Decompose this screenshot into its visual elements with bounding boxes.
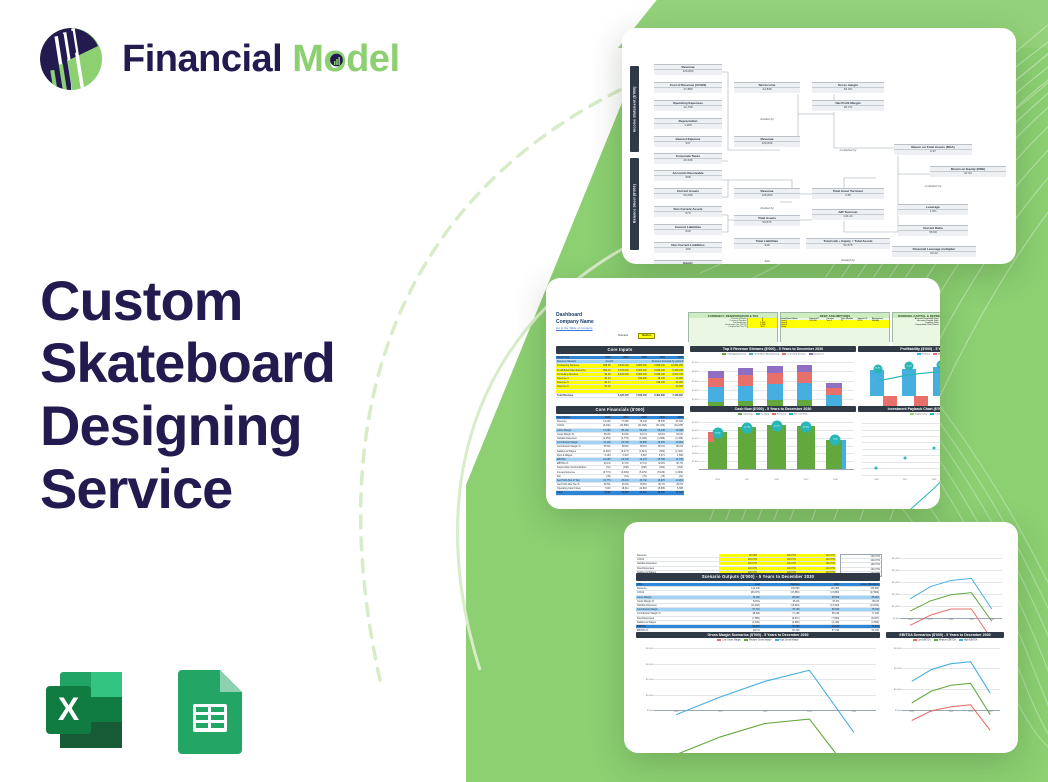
dupont-operator: multiplied by: [812, 148, 884, 152]
brand-name-secondary: M o del: [292, 40, 399, 78]
panel-debt-assumptions: DEBT ASSUMPTIONS Loan/Grant NameAmount $…: [780, 312, 890, 342]
bar-investing: [842, 440, 847, 469]
dupont-node: Return on Equity (ROE) 61.03: [930, 166, 1006, 178]
chart-plot-area: $7,000 $6,000 $5,000 $4,000 $3,000 $2,00…: [699, 422, 854, 478]
chart-plot-area: $20,000 $15,000 $10,000 $5,000 2026 2027…: [902, 648, 1000, 710]
data-label-bubble: 52.3%: [937, 361, 941, 370]
supported-apps: X: [38, 664, 254, 756]
data-label-bubble: 43,700: [771, 421, 782, 432]
dupont-node: Accounts Receivable 998: [654, 170, 722, 182]
chart-plot-area: $25,000 $20,000 $15,000 $10,000 $5,000 2…: [654, 648, 876, 710]
chart-plot-area: $9,000 $8,000 $7,000 $6,000 $5,000 $4,00…: [862, 422, 940, 478]
chart-legend: Payback year Cumulative Cash Generated (…: [858, 412, 940, 417]
toc-link[interactable]: Go to the Table of Contents: [556, 326, 594, 330]
table-core-financials: Description20262027202820292030 Revenue1…: [556, 416, 684, 496]
chart-plot-area: $30,000 $25,000 $20,000 $15,000 $10,000 …: [900, 558, 1002, 618]
dashboard-sheet: Dashboard Company Name Go to the Table o…: [556, 312, 932, 487]
dupont-node: Interest Expense 537: [654, 136, 722, 148]
scenario-sheet: Revenue98.63%100.07%110.07% COGS100.07%1…: [636, 554, 1008, 731]
dupont-node: Total Liab + Equity = Total Assets 50,57…: [806, 238, 890, 250]
gross-margin-lines: [654, 648, 876, 753]
brand-logo: Financial M o del: [38, 26, 400, 92]
dupont-node: Current Ratio 58.98: [898, 225, 968, 237]
dupont-node: Leverage 1.9%: [898, 204, 968, 216]
dupont-operator: Add: [734, 259, 800, 263]
data-label-bubble: 8,7000: [712, 428, 723, 439]
dupont-node: Total Liabilities 949: [734, 238, 800, 250]
pie-bar-chart-logo-icon: [38, 26, 104, 92]
screenshot-card-dashboard[interactable]: Dashboard Company Name Go to the Table o…: [546, 278, 940, 509]
data-label-bubble: 51.5%: [905, 362, 914, 371]
dupont-node: Net Profit Margin 35.7%: [812, 100, 884, 112]
data-label-bubble: 43,100: [800, 422, 811, 433]
google-sheets-icon[interactable]: [162, 664, 254, 756]
section-title-core-financials: Core Financials ($'000): [556, 406, 684, 414]
brand-name-primary: Financial: [122, 40, 282, 78]
dupont-node: Net Income 44,828: [734, 82, 800, 94]
panel-working-capital-depreciation: WORKING CAPITAL & DEPRECIATION Accounts …: [892, 312, 940, 342]
dupont-node: Total Asset Turnover 2.55: [812, 188, 884, 200]
table-total-row: Total Revenue6,420,4007,830,4008,484,600…: [556, 394, 684, 398]
section-title-scenario-outputs: Scenario Outputs ($'000) - 5 Years to De…: [636, 573, 880, 581]
dupont-node: Financial Leverage multiplier 63.22: [892, 246, 976, 258]
table-scenario-outputs: KPIsLowMediumHighActive (Medium) Revenue…: [636, 583, 880, 633]
dupont-node: Corporate Taxes 20,636: [654, 153, 722, 165]
data-point: [875, 466, 878, 469]
dupont-node: Current Assets 50,006: [654, 188, 722, 200]
dupont-node: Depreciation 1,265: [654, 118, 722, 130]
dupont-node: Cost of Revenue (COGS) 47,880: [654, 82, 722, 94]
table-scenario-assumptions: Revenue98.63%100.07%110.07% COGS100.07%1…: [636, 554, 836, 575]
chart-gross-margin-scenarios: Gross Margin Scenarios ($'000) - 5 Years…: [636, 632, 880, 720]
dupont-node: Operating Expenses 12,758: [654, 100, 722, 112]
dupont-operator: divided by: [812, 258, 884, 262]
screenshot-card-scenario-analysis[interactable]: Revenue98.63%100.07%110.07% COGS100.07%1…: [624, 522, 1018, 753]
dupont-node: Non Current Liabilities 109: [654, 242, 722, 254]
scenario-label: Scenario: [618, 334, 628, 337]
dupont-diagram: Income Statement ($'000) Balance Sheet (…: [630, 62, 1010, 246]
chart-legend: Operating Investing Financing Net Cash F…: [690, 412, 856, 417]
svg-text:X: X: [58, 691, 80, 727]
screenshot-card-dupont-analysis[interactable]: Income Statement ($'000) Balance Sheet (…: [622, 28, 1016, 264]
dupont-operator: divided by: [734, 117, 800, 121]
data-label-bubble: 42,700: [742, 422, 753, 433]
chart-legend: Low Gross Margin Medium Gross Margin Hig…: [636, 638, 880, 643]
chart-investment-payback: Investment Payback Chart ($'000) - 5 Yea…: [858, 406, 940, 488]
mini-chart-icon: [330, 53, 343, 67]
dupont-node: Non Current Assets 570: [654, 206, 722, 218]
data-label-bubble: 8,050: [830, 434, 841, 445]
data-point: [933, 446, 936, 449]
poster-canvas: Financial M o del Custom Skateboard Desi…: [0, 0, 1048, 782]
data-point: [904, 456, 907, 459]
chart-scenario-trend: $30,000 $25,000 $20,000 $15,000 $10,000 …: [886, 554, 1004, 626]
dupont-node: Revenue 126,800: [734, 136, 800, 148]
dupont-operator: divided by: [734, 206, 800, 210]
dupont-node: Revenue 126,800: [654, 64, 722, 76]
dupont-node: Equity 49,629: [654, 260, 722, 264]
scenario-selector[interactable]: Medium: [638, 333, 655, 339]
table-row: Cash8,89618,69034,78128,76518,591: [556, 491, 684, 495]
chart-ebitda-scenarios: EBITDA Scenarios ($'000) - 5 Years to De…: [886, 632, 1004, 720]
microsoft-excel-icon[interactable]: X: [38, 664, 130, 756]
data-label-bubble: 50.1%: [873, 364, 882, 373]
chart-legend: Revenue EBITDA EBITDA %: [858, 352, 940, 357]
section-title-core-inputs: Core Inputs: [556, 346, 684, 354]
table-core-inputs: Fiscal Year20262027202820292030 Revenue …: [556, 356, 684, 398]
dashboard-heading: Dashboard Company Name Go to the Table o…: [556, 312, 594, 330]
dupont-node: Return on Total Assets (ROA) 0.97: [894, 144, 972, 156]
panel-currency-denomination-tax: CURRENCY, DENOMINATION & TAX Currency Na…: [688, 312, 778, 342]
chart-legend: Prototyping Services Small Batch Manufac…: [690, 352, 856, 357]
chart-cash-flow: Cash flow ($'000) - 5 Years to December …: [690, 406, 856, 488]
brand-wordmark: Financial M o del: [122, 40, 400, 78]
dupont-node: A/R Turnover 144.24: [812, 209, 884, 221]
dupont-node: Revenue 126,800: [734, 188, 800, 200]
dupont-operator: multiplied by: [894, 184, 972, 188]
dupont-node: Current Liabilities 849: [654, 224, 722, 236]
ebitda-lines: [902, 648, 1000, 746]
dupont-node: Total Assets 50,576: [734, 215, 800, 227]
dupont-node: Gross margin 63.0%: [812, 82, 884, 94]
chart-legend: Low EBITDA Medium EBITDA High EBITDA: [886, 638, 1004, 643]
page-title: Custom Skateboard Designing Service: [40, 270, 440, 521]
dupont-band-balance-sheet: Balance Sheet ($'000): [630, 158, 639, 250]
dupont-band-income-statement: Income Statement ($'000): [630, 66, 639, 152]
payback-trend-line: [862, 422, 940, 509]
